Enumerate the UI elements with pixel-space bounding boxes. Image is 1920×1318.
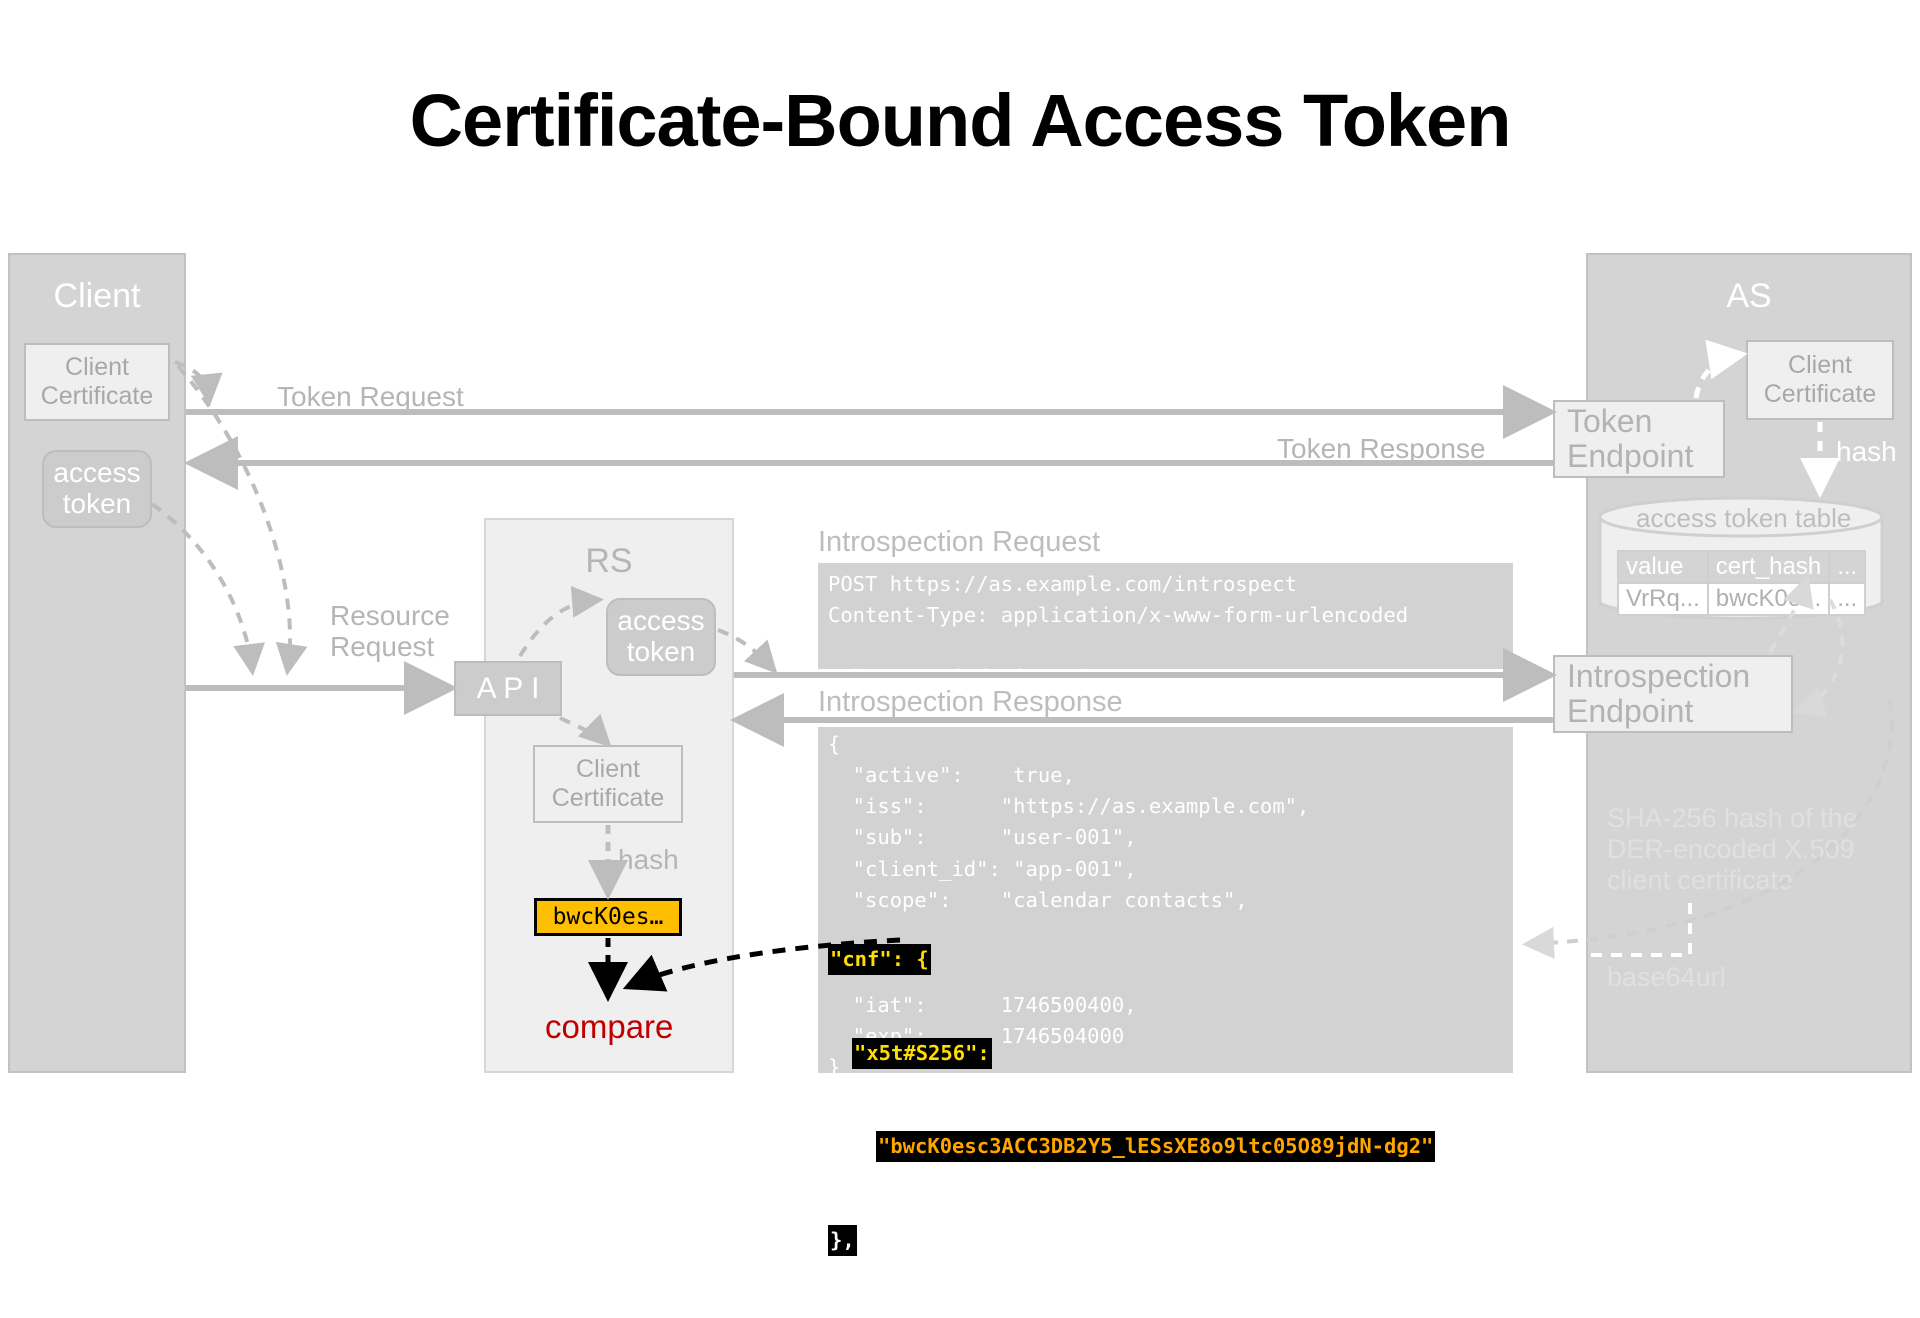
cnf-close-brace: }, — [828, 1225, 857, 1256]
as-label: AS — [1588, 277, 1910, 316]
cnf-block: "cnf": { "x5t#S256": "bwcK0esc3ACC3DB2Y5… — [828, 882, 1435, 1318]
page-title: Certificate-Bound Access Token — [0, 78, 1920, 163]
client-access-token: access token — [42, 450, 152, 528]
client-cert-to-api — [178, 366, 290, 668]
as-hash-label: hash — [1836, 434, 1897, 469]
access-token-table: value cert_hash ... VrRq... bwcK0e... ..… — [1617, 550, 1866, 616]
introspection-response-title: Introspection Response — [818, 686, 1123, 719]
sha256-note: SHA-256 hash of the DER-encoded X.509 cl… — [1607, 803, 1858, 896]
token-response-label: Token Response — [1277, 434, 1486, 465]
introspection-request-body: POST https://as.example.com/introspect C… — [818, 563, 1513, 669]
rs-hash-label: hash — [618, 845, 679, 876]
base64url-label: base64url — [1607, 962, 1726, 993]
introspection-endpoint-label: Introspection Endpoint — [1567, 659, 1750, 729]
rs-hash-chip: bwcK0es… — [534, 898, 682, 936]
token-endpoint-label: Token Endpoint — [1567, 404, 1693, 474]
token-endpoint-box: Token Endpoint — [1553, 400, 1725, 478]
rs-access-token: access token — [606, 598, 716, 676]
cell-more: ... — [1829, 583, 1865, 615]
rs-label: RS — [486, 542, 732, 581]
client-certificate-box: Client Certificate — [24, 343, 170, 421]
rs-client-certificate-box: Client Certificate — [533, 745, 683, 823]
resource-request-label: Resource Request — [330, 601, 450, 663]
column-header-cert-hash: cert_hash — [1708, 551, 1829, 583]
access-token-table-title: access token table — [1636, 503, 1851, 534]
cell-value: VrRq... — [1618, 583, 1708, 615]
cnf-x5t-key: "x5t#S256": — [852, 1038, 992, 1069]
rs-api-box: A P I — [454, 661, 562, 716]
table-row: VrRq... bwcK0e... ... — [1618, 583, 1865, 615]
token-request-label: Token Request — [277, 382, 464, 413]
cell-cert-hash: bwcK0e... — [1708, 583, 1829, 615]
column-header-value: value — [1618, 551, 1708, 583]
column-header-more: ... — [1829, 551, 1865, 583]
as-client-certificate-box: Client Certificate — [1746, 340, 1894, 420]
introspection-request-title: Introspection Request — [818, 526, 1100, 559]
cnf-key: "cnf": { — [828, 944, 931, 975]
cnf-x5t-value: "bwcK0esc3ACC3DB2Y5_lESsXE8o9ltc05O89jdN… — [876, 1131, 1435, 1162]
compare-label: compare — [545, 1008, 673, 1046]
table-header-row: value cert_hash ... — [1618, 551, 1865, 583]
client-label: Client — [10, 277, 184, 316]
introspection-endpoint-box: Introspection Endpoint — [1553, 655, 1793, 733]
